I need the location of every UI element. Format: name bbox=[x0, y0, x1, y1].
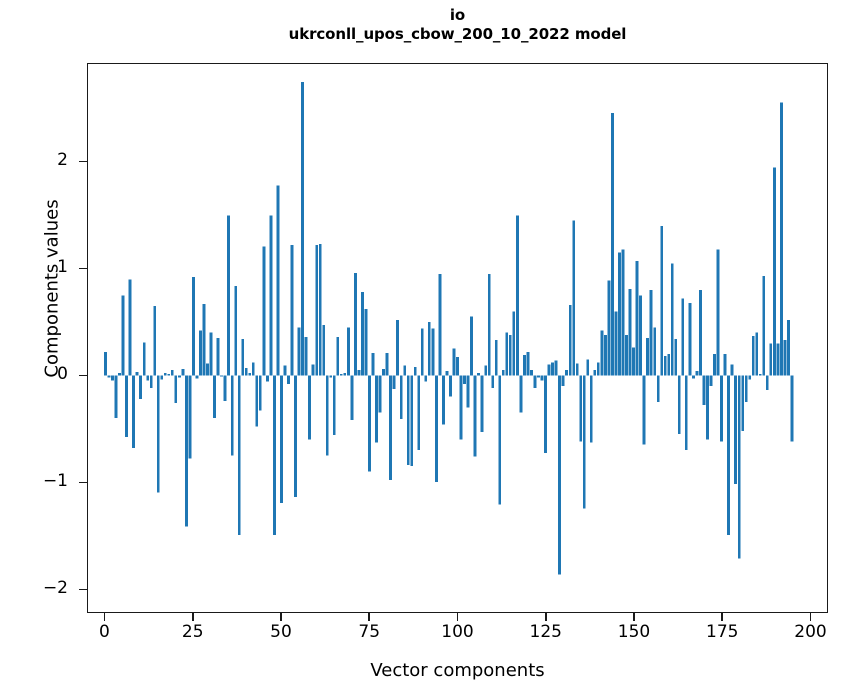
x-tick-label: 150 bbox=[594, 622, 674, 642]
x-tick-mark bbox=[368, 613, 370, 621]
figure: io ukrconll_upos_cbow_200_10_2022 model … bbox=[0, 0, 847, 696]
x-tick-label: 125 bbox=[506, 622, 586, 642]
x-tick-label: 200 bbox=[771, 622, 847, 642]
x-tick-mark bbox=[810, 613, 812, 621]
x-tick-label: 175 bbox=[682, 622, 762, 642]
x-tick-mark bbox=[721, 613, 723, 621]
x-tick-label: 75 bbox=[329, 622, 409, 642]
x-axis: 0255075100125150175200 bbox=[0, 0, 847, 696]
x-tick-label: 100 bbox=[418, 622, 498, 642]
x-tick-mark bbox=[633, 613, 635, 621]
x-tick-label: 0 bbox=[64, 622, 144, 642]
x-tick-mark bbox=[457, 613, 459, 621]
x-tick-mark bbox=[192, 613, 194, 621]
x-tick-mark bbox=[545, 613, 547, 621]
x-axis-label: Vector components bbox=[87, 660, 828, 681]
x-tick-mark bbox=[104, 613, 106, 621]
y-axis-label: Components values bbox=[42, 139, 63, 439]
x-tick-label: 50 bbox=[241, 622, 321, 642]
x-tick-label: 25 bbox=[153, 622, 233, 642]
x-tick-mark bbox=[280, 613, 282, 621]
